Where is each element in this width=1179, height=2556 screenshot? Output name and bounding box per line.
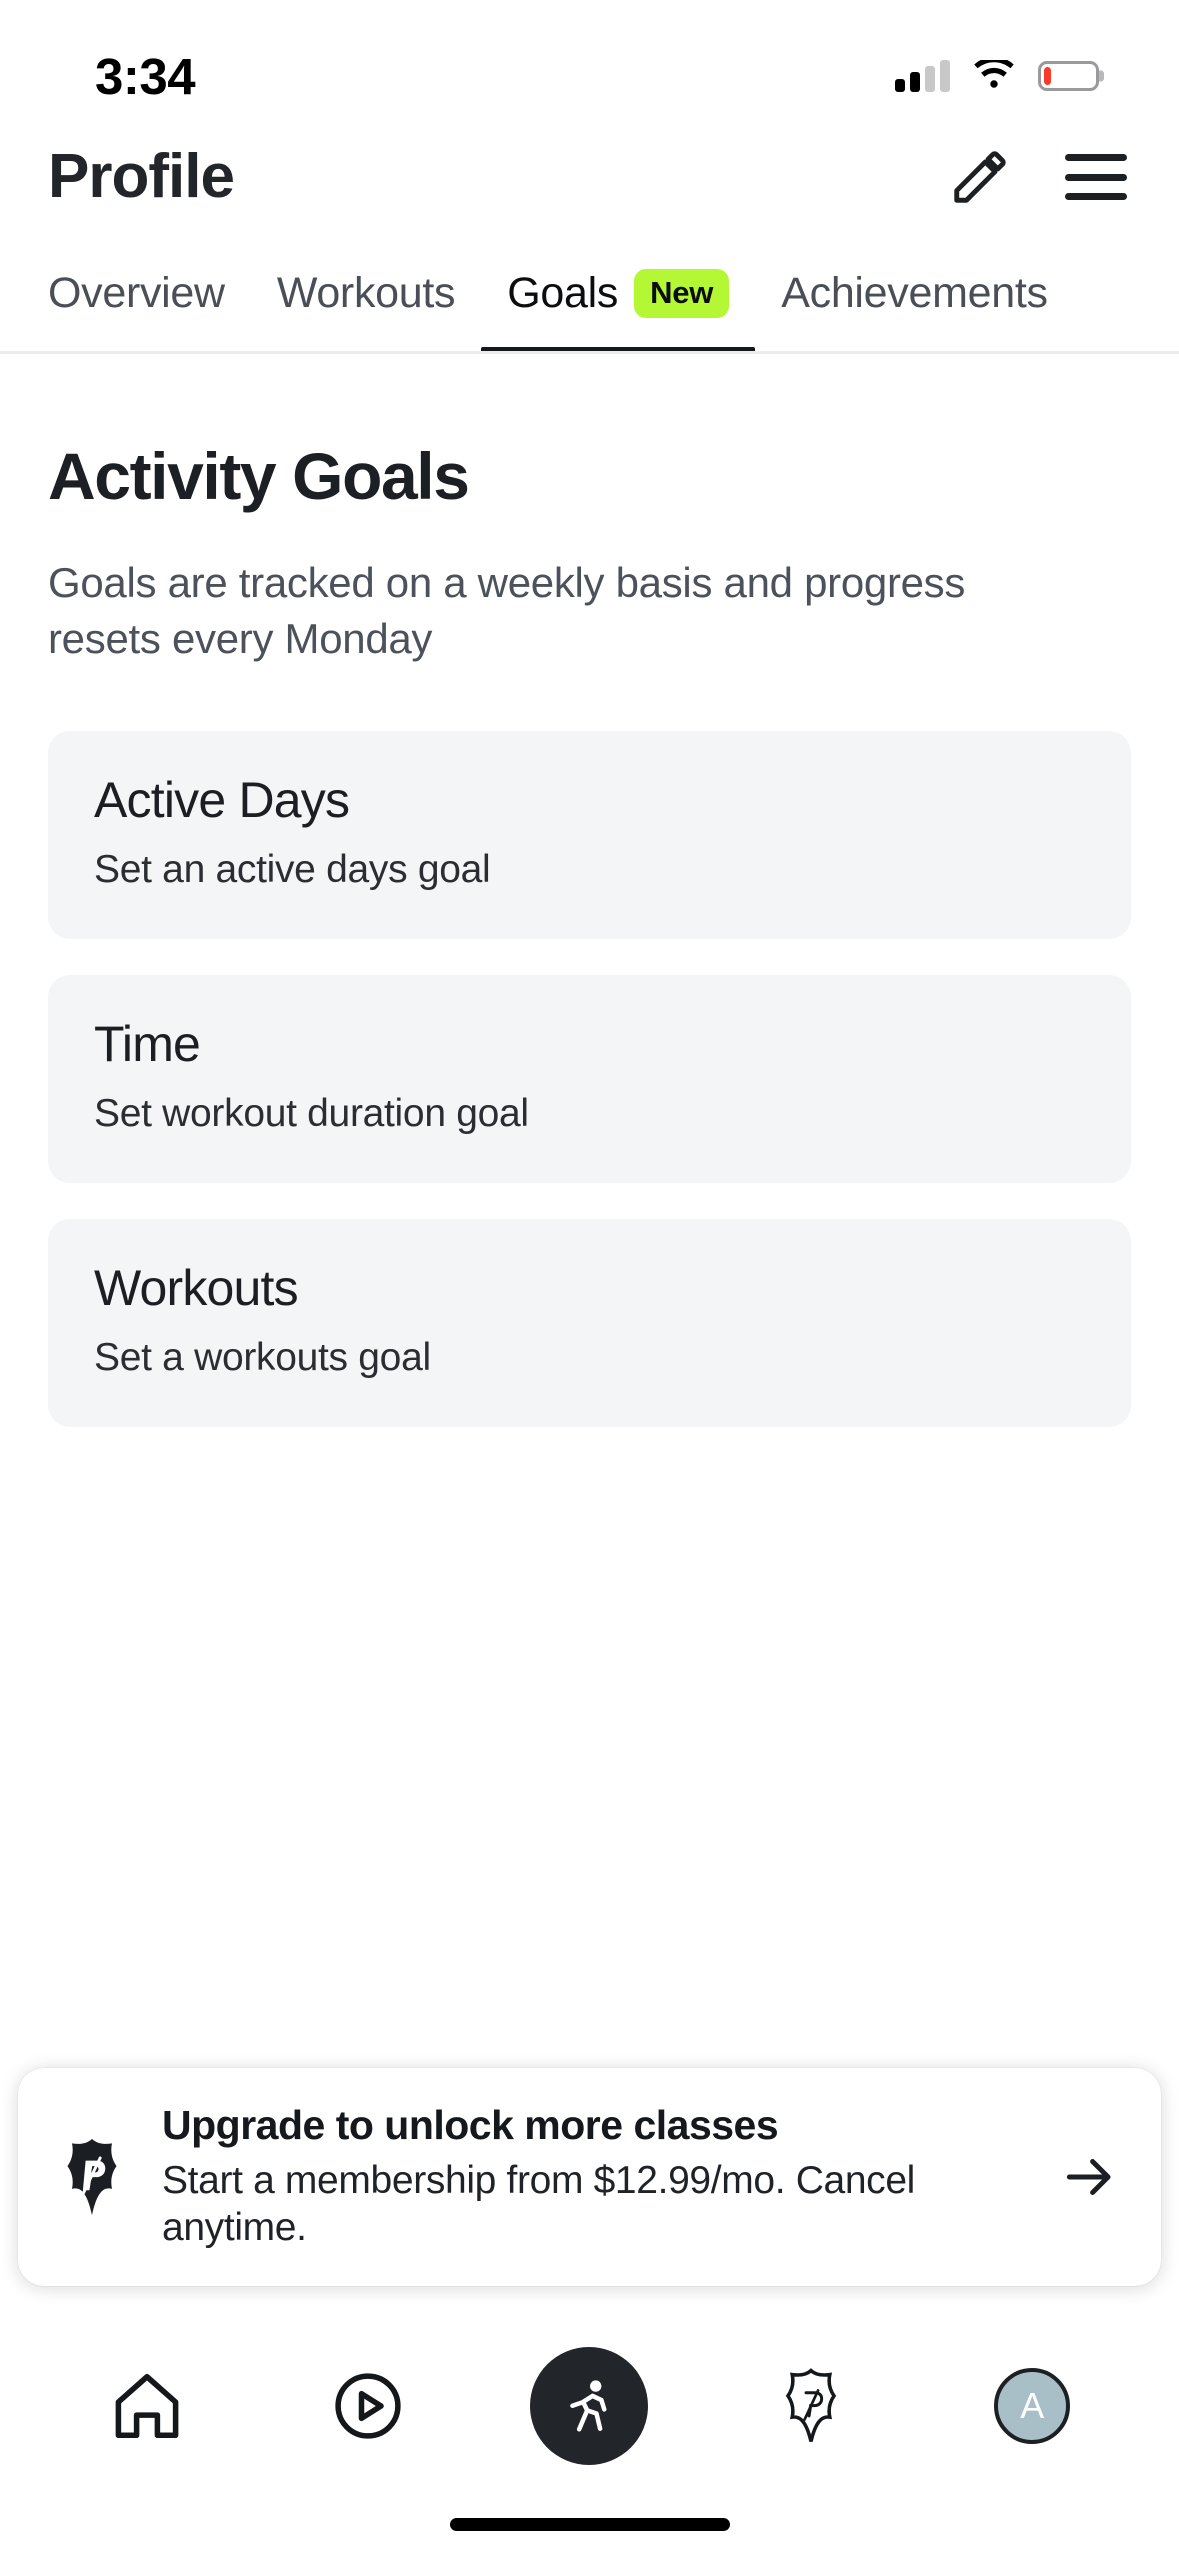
tab-label: Achievements (781, 269, 1047, 318)
goal-card-title: Time (94, 1017, 1085, 1072)
goal-card-subtitle: Set workout duration goal (94, 1092, 1085, 1137)
upgrade-banner[interactable]: Upgrade to unlock more classes Start a m… (18, 2068, 1161, 2286)
tab-overview[interactable]: Overview (48, 236, 251, 351)
app-header: Profile (0, 118, 1179, 236)
status-bar-icons (895, 60, 1099, 92)
goal-card-workouts[interactable]: Workouts Set a workouts goal (48, 1219, 1131, 1427)
status-bar-time: 3:34 (95, 51, 195, 102)
edit-profile-button[interactable] (943, 140, 1017, 214)
tab-bar: Overview Workouts Goals New Achievements (0, 236, 1179, 354)
goal-card-active-days[interactable]: Active Days Set an active days goal (48, 731, 1131, 939)
main-content: Activity Goals Goals are tracked on a we… (0, 354, 1179, 2068)
home-icon (108, 2367, 186, 2445)
tab-label: Workouts (277, 269, 455, 318)
wifi-icon (972, 60, 1016, 92)
avatar: A (994, 2368, 1070, 2444)
tab-achievements[interactable]: Achievements (755, 236, 1073, 351)
menu-button[interactable] (1059, 140, 1133, 214)
nav-item-peloton[interactable] (752, 2347, 870, 2465)
arrow-right-icon[interactable] (1059, 2146, 1121, 2208)
play-circle-icon (329, 2367, 407, 2445)
avatar-initial: A (1020, 2388, 1044, 2424)
goal-card-title: Active Days (94, 773, 1085, 828)
tab-new-badge: New (634, 269, 729, 318)
tab-label: Goals (507, 269, 618, 318)
nav-item-profile[interactable]: A (973, 2347, 1091, 2465)
tab-workouts[interactable]: Workouts (251, 236, 481, 351)
banner-body: Start a membership from $12.99/mo. Cance… (162, 2157, 1029, 2252)
battery-fill (1044, 67, 1051, 85)
section-heading: Activity Goals (48, 442, 1131, 511)
running-person-icon (558, 2375, 620, 2437)
tab-list[interactable]: Overview Workouts Goals New Achievements (0, 236, 1179, 351)
cellular-signal-icon (895, 60, 950, 92)
hamburger-menu-icon (1065, 154, 1127, 200)
bottom-navigation-bar: A (0, 2320, 1179, 2492)
header-actions (943, 140, 1133, 214)
nav-item-classes[interactable] (309, 2347, 427, 2465)
page-title: Profile (48, 146, 234, 208)
battery-icon (1038, 61, 1099, 91)
phone-screen: 3:34 Profile (0, 0, 1179, 2556)
tab-label: Overview (48, 269, 225, 318)
goal-card-title: Workouts (94, 1261, 1085, 1316)
section-subheading: Goals are tracked on a weekly basis and … (48, 555, 1058, 667)
goal-card-subtitle: Set a workouts goal (94, 1336, 1085, 1381)
nav-item-home[interactable] (88, 2347, 206, 2465)
banner-title: Upgrade to unlock more classes (162, 2102, 1029, 2149)
banner-zone: Upgrade to unlock more classes Start a m… (0, 2068, 1179, 2286)
home-indicator[interactable] (450, 2518, 730, 2531)
goal-card-subtitle: Set an active days goal (94, 848, 1085, 893)
pencil-edit-icon (949, 146, 1011, 208)
peloton-logo-icon (52, 2137, 132, 2217)
home-indicator-zone (0, 2492, 1179, 2556)
goal-card-time[interactable]: Time Set workout duration goal (48, 975, 1131, 1183)
status-bar: 3:34 (0, 0, 1179, 118)
goal-card-list: Active Days Set an active days goal Time… (48, 731, 1131, 1427)
tab-goals[interactable]: Goals New (481, 236, 755, 351)
peloton-logo-icon (772, 2367, 850, 2445)
banner-text: Upgrade to unlock more classes Start a m… (162, 2102, 1029, 2252)
nav-item-workout[interactable] (530, 2347, 648, 2465)
